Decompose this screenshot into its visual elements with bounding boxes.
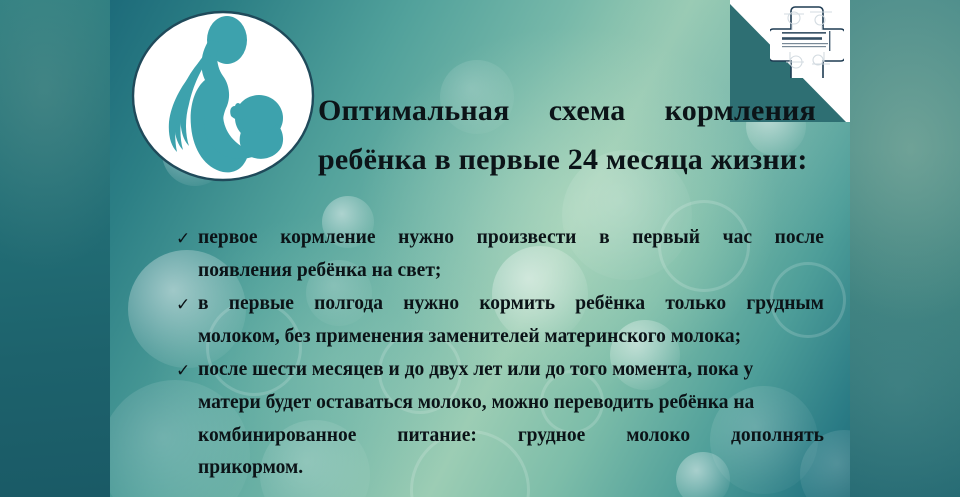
title-line-2: ребёнка в первые 24 месяца жизни: — [318, 135, 816, 184]
check-icon: ✓ — [176, 223, 190, 256]
page-title: Оптимальная схема кормления ребёнка в пе… — [318, 86, 816, 184]
slide-canvas: Оптимальная схема кормления ребёнка в пе… — [0, 0, 960, 497]
title-word: Оптимальная — [318, 86, 510, 135]
bullet-word: полгода — [314, 288, 383, 321]
bullet-line: первое кормление нужно произвести в перв… — [198, 222, 824, 255]
bullet-word: ребёнка — [575, 288, 645, 321]
bullet-line: в первые полгода нужно кормить ребёнка т… — [198, 288, 824, 321]
bullet-word: кормить — [479, 288, 555, 321]
bullet-word: нужно — [398, 222, 454, 255]
list-item: ✓ первое кормление нужно произвести в пе… — [176, 222, 824, 287]
bullet-word: в — [599, 222, 610, 255]
title-word: кормления — [665, 86, 816, 135]
slide-content: Оптимальная схема кормления ребёнка в пе… — [0, 0, 960, 497]
check-icon: ✓ — [176, 355, 190, 388]
bullet-word: грудное — [518, 420, 585, 453]
bullet-word: после — [775, 222, 824, 255]
bullet-word: первые — [229, 288, 294, 321]
list-item: ✓ в первые полгода нужно кормить ребёнка… — [176, 288, 824, 353]
bullet-word: грудным — [746, 288, 824, 321]
bullet-word: только — [665, 288, 726, 321]
bullet-word: питание: — [397, 420, 477, 453]
bullet-line: молоком, без применения заменителей мате… — [198, 321, 824, 354]
bullet-list: ✓ первое кормление нужно произвести в пе… — [176, 222, 824, 486]
bullet-word: час — [723, 222, 752, 255]
bullet-line: комбинированное питание: грудное молоко … — [198, 420, 824, 453]
bullet-line: матери будет оставаться молоко, можно пе… — [198, 387, 824, 420]
bullet-word: кормление — [280, 222, 375, 255]
bullet-line: после шести месяцев и до двух лет или до… — [198, 354, 824, 387]
bullet-line: прикормом. — [198, 452, 824, 485]
check-icon: ✓ — [176, 289, 190, 322]
bullet-word: первый — [632, 222, 700, 255]
title-word: схема — [549, 86, 626, 135]
bullet-word: комбинированное — [198, 420, 356, 453]
bullet-word: первое — [198, 222, 258, 255]
bullet-word: нужно — [403, 288, 459, 321]
bullet-word: в — [198, 288, 209, 321]
bullet-line: появления ребёнка на свет; — [198, 255, 824, 288]
bullet-word: произвести — [477, 222, 577, 255]
list-item: ✓ после шести месяцев и до двух лет или … — [176, 354, 824, 484]
bullet-word: молоко — [626, 420, 690, 453]
bullet-word: дополнять — [731, 420, 824, 453]
title-line-1: Оптимальная схема кормления — [318, 86, 816, 135]
